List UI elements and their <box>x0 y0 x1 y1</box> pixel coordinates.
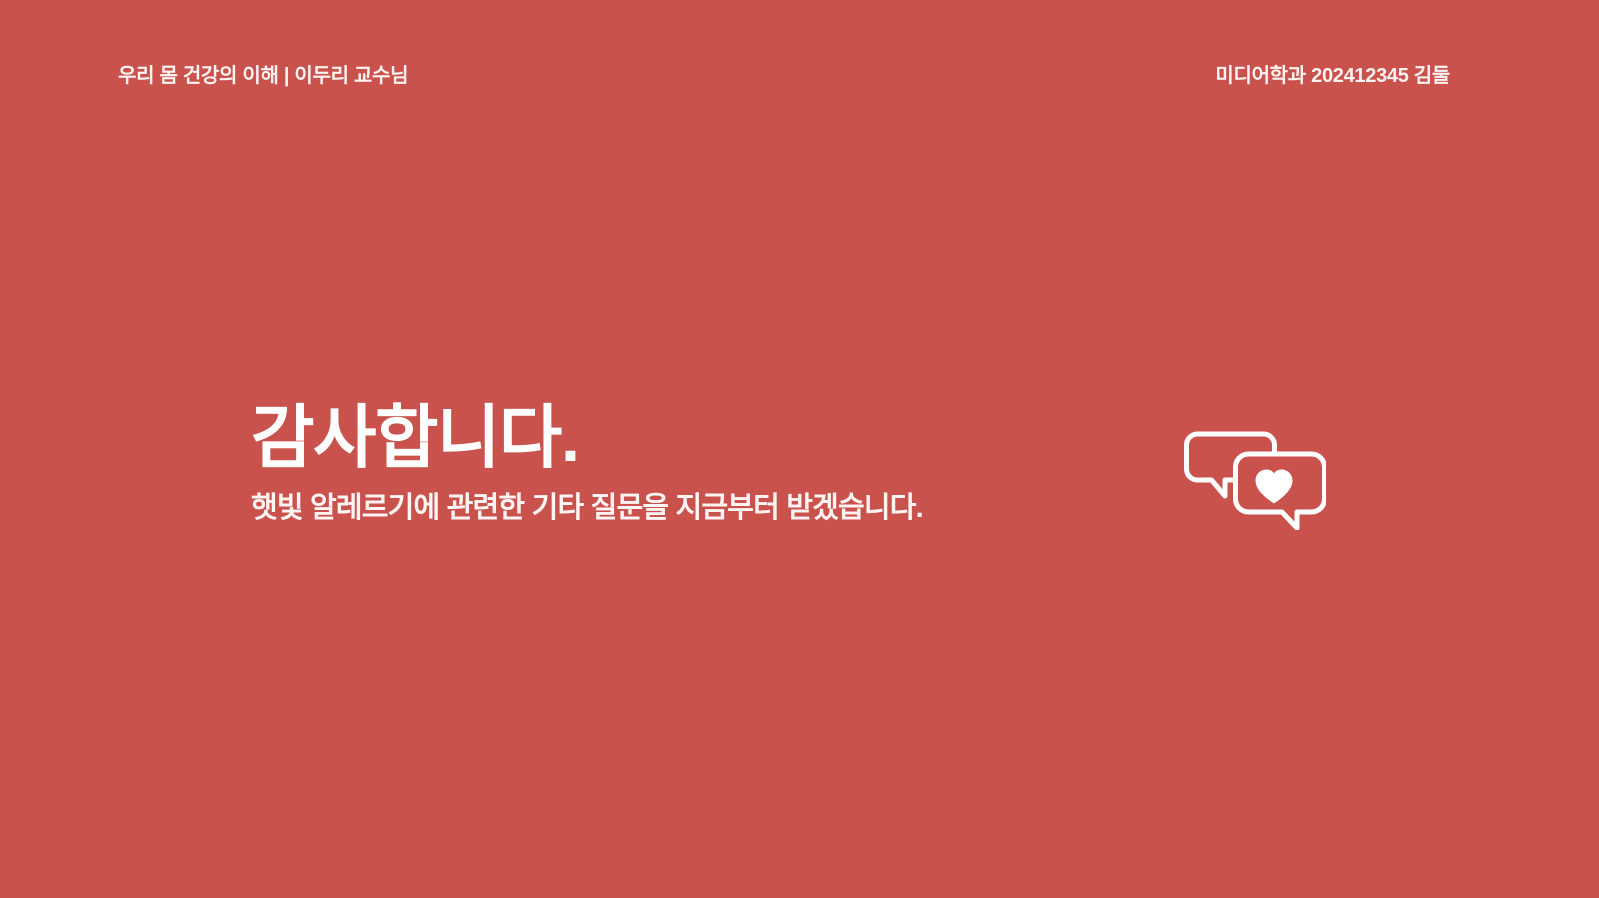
thank-you-slide: 우리 몸 건강의 이해 | 이두리 교수님 미디어학과 202412345 김둘… <box>0 0 1599 898</box>
page-title: 감사합니다. <box>251 398 1071 477</box>
page-subtitle: 햇빛 알레르기에 관련한 기타 질문을 지금부터 받겠습니다. <box>251 490 1071 528</box>
chat-bubbles-heart-icon <box>1178 424 1326 530</box>
header-course-info: 우리 몸 건강의 이해 | 이두리 교수님 <box>118 64 408 88</box>
header-student-info: 미디어학과 202412345 김둘 <box>1215 64 1450 88</box>
slide-header: 우리 몸 건강의 이해 | 이두리 교수님 미디어학과 202412345 김둘 <box>0 0 1599 150</box>
main-content-block: 감사합니다. 햇빛 알레르기에 관련한 기타 질문을 지금부터 받겠습니다. <box>251 398 1071 528</box>
